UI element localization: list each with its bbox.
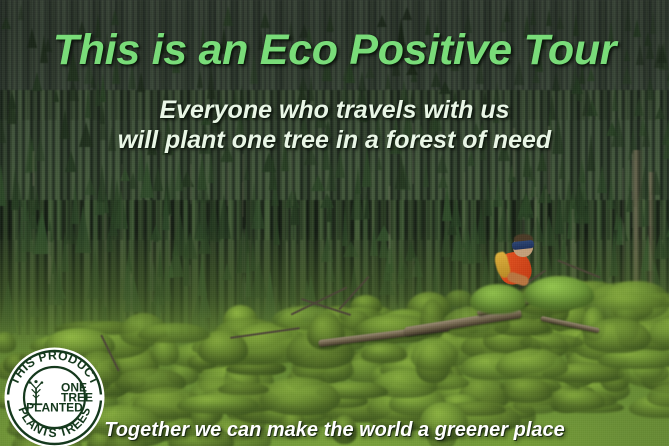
foreground-shrub [470, 284, 526, 314]
one-tree-planted-badge: THIS PRODUCT PLANTS TREES ONE [4, 347, 105, 446]
badge-center-line-3: PLANTED [26, 401, 83, 415]
broken-branch [230, 327, 300, 339]
eco-positive-tour-poster: This is an Eco Positive Tour Everyone wh… [0, 0, 669, 446]
subtitle-line-1: Everyone who travels with us [0, 95, 669, 125]
foreground-shrub [524, 276, 594, 310]
subtitle-block: Everyone who travels with us will plant … [0, 95, 669, 155]
badge-tick-right [93, 395, 103, 401]
broken-branch [339, 276, 370, 310]
badge-tick-left [7, 395, 17, 401]
fallen-log [540, 316, 600, 333]
subtitle-line-2: will plant one tree in a forest of need [0, 125, 669, 155]
page-title: This is an Eco Positive Tour [0, 26, 669, 75]
